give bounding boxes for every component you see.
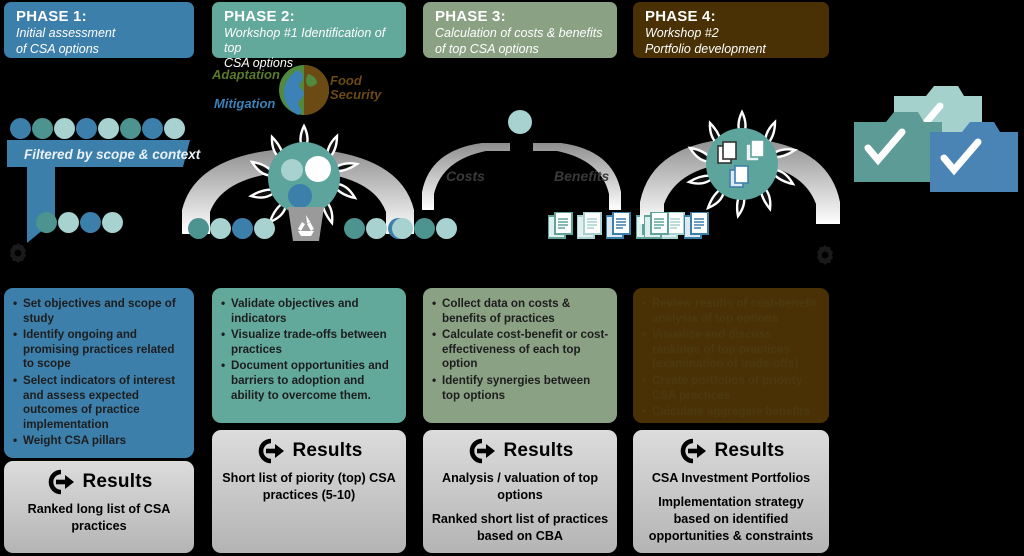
arch-label-benefits: Benefits (554, 168, 609, 184)
results-label: Results (82, 471, 152, 493)
document-icon (577, 212, 603, 242)
practice-dot (98, 118, 119, 139)
practice-dot (344, 218, 365, 239)
practice-dot (142, 118, 163, 139)
document-icon (606, 212, 632, 242)
phase-subtitle-line-1: Calculation of costs & benefits (435, 26, 607, 41)
practice-dot (120, 118, 141, 139)
bullet-item: Weight CSA pillars (12, 434, 186, 449)
practice-dot (392, 218, 413, 239)
bullet-box-phase-4: Review results of cost-benefit analysis … (633, 288, 829, 423)
phase-subtitle-line-2: of CSA options (16, 42, 184, 57)
practice-dot (164, 118, 185, 139)
graphic-phase-2-pillars: Adaptation Mitigation Food Security (186, 60, 416, 240)
graphic-phase-1-funnel: Filtered by scope & context (0, 104, 200, 254)
phase-subtitle-line-2: of top CSA options (435, 42, 607, 57)
phase-subtitle-line-1: Initial assessment (16, 26, 184, 41)
gear-icon-right (815, 245, 835, 265)
bullet-item: Validate objectives and indicators (220, 297, 398, 326)
phase-title: PHASE 4: (645, 8, 819, 25)
results-text: Analysis / valuation of top options (431, 470, 609, 504)
practice-dot (366, 218, 387, 239)
graphic-portfolio-folders (852, 82, 1022, 197)
filtered-dot (58, 212, 79, 233)
results-text: Ranked long list of CSA practices (12, 501, 186, 535)
document-icon (548, 212, 574, 242)
results-arrow-icon (255, 438, 285, 464)
filtered-dot (36, 212, 57, 233)
practice-dot (232, 218, 253, 239)
bullet-box-phase-2: Validate objectives and indicators Visua… (212, 288, 406, 423)
graphic-phase-4-portfolio (640, 100, 850, 250)
bullet-item: Document opportunities and barriers to a… (220, 359, 398, 403)
results-box-phase-2[interactable]: Results Short list of piority (top) CSA … (212, 430, 406, 553)
practice-dot (254, 218, 275, 239)
globe-icon (278, 64, 330, 116)
bullet-item: Set objectives and scope of study (12, 297, 186, 326)
phase-header-3[interactable]: PHASE 3: Calculation of costs & benefits… (423, 2, 617, 58)
bullet-item: Visualize trade-offs between practices (220, 328, 398, 357)
practice-dot (188, 218, 209, 239)
phase-subtitle-line-1: Workshop #2 (645, 26, 819, 41)
results-text: Short list of piority (top) CSA practice… (220, 470, 398, 504)
results-text: CSA Investment Portfolios (641, 470, 821, 487)
pillar-label-mitigation: Mitigation (214, 96, 275, 111)
phase-subtitle-line-2: Portfolio development (645, 42, 819, 57)
sunburst-icon (682, 108, 802, 220)
bullet-item: Calculate cost-benefit or cost-effective… (431, 328, 609, 372)
results-label: Results (292, 440, 362, 462)
bullet-item: Visualize and discuss rankings of top pr… (641, 328, 821, 372)
document-icon (644, 212, 670, 242)
recycle-bin-icon (286, 207, 326, 243)
bullet-box-phase-3: Collect data on costs & benefits of prac… (423, 288, 617, 423)
bullet-item: Identify synergies between top options (431, 374, 609, 403)
results-label: Results (503, 440, 573, 462)
pillar-label-food-security-line1: Food Security (330, 74, 390, 102)
bullet-item: Select indicators of interest and assess… (12, 374, 186, 432)
folder-check-icon (928, 118, 1020, 196)
arch-label-costs: Costs (446, 168, 485, 184)
bullet-item: Collect data on costs & benefits of prac… (431, 297, 609, 326)
phase-title: PHASE 1: (16, 8, 184, 25)
practice-dot (32, 118, 53, 139)
results-label: Results (714, 440, 784, 462)
results-text: Ranked short list of practices based on … (431, 511, 609, 545)
practice-dot (76, 118, 97, 139)
funnel-label: Filtered by scope & context (24, 147, 200, 162)
phase-header-4[interactable]: PHASE 4: Workshop #2 Portfolio developme… (633, 2, 829, 58)
bullet-item: Identify ongoing and promising practices… (12, 328, 186, 372)
results-text: Implementation strategy based on identif… (641, 494, 821, 545)
results-arrow-icon (677, 438, 707, 464)
phase-title: PHASE 3: (435, 8, 607, 25)
results-box-phase-4[interactable]: Results CSA Investment Portfolios Implem… (633, 430, 829, 553)
diagram-canvas: PHASE 1: Initial assessment of CSA optio… (0, 0, 1024, 556)
bullet-box-phase-1: Set objectives and scope of study Identi… (4, 288, 194, 458)
practice-dot (54, 118, 75, 139)
bullet-item: Create portfolios of priority CSA practi… (641, 374, 821, 403)
results-arrow-icon (466, 438, 496, 464)
filtered-dot (80, 212, 101, 233)
filtered-dot (102, 212, 123, 233)
phase-subtitle-line-1: Workshop #1 Identification of top (224, 26, 396, 55)
pillar-label-adaptation: Adaptation (212, 67, 280, 82)
results-arrow-icon (45, 469, 75, 495)
phase-header-2[interactable]: PHASE 2: Workshop #1 Identification of t… (212, 2, 406, 58)
top-dot (508, 110, 532, 134)
gear-icon-left (8, 243, 28, 263)
phase-title: PHASE 2: (224, 8, 396, 25)
bullet-item: Review results of cost-benefit analysis … (641, 297, 821, 326)
results-box-phase-3[interactable]: Results Analysis / valuation of top opti… (423, 430, 617, 553)
practice-dot (10, 118, 31, 139)
results-box-phase-1[interactable]: Results Ranked long list of CSA practice… (4, 461, 194, 553)
phase-header-1[interactable]: PHASE 1: Initial assessment of CSA optio… (4, 2, 194, 58)
practice-dot (210, 218, 231, 239)
bullet-item: Calculate aggregate benefits (641, 405, 821, 420)
